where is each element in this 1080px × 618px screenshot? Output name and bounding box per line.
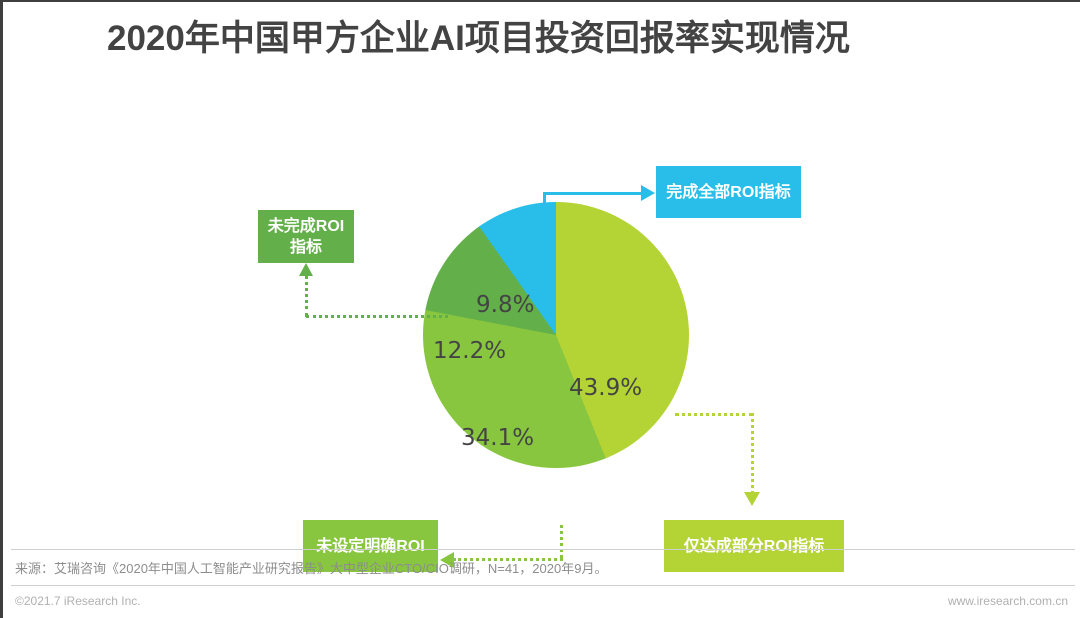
page-title: 2020年中国甲方企业AI项目投资回报率实现情况 — [107, 14, 1007, 64]
pie-slice-label-no-defined-roi: 34.1% — [461, 425, 534, 451]
copyright-text: ©2021.7 iResearch Inc. — [15, 594, 141, 608]
website-link[interactable]: www.iresearch.com.cn — [948, 594, 1068, 608]
pie-slice-label-incomplete-roi: 12.2% — [433, 338, 506, 364]
legend-label-incomplete-roi: 未完成ROI指标 — [258, 210, 354, 263]
arrow-up-icon — [299, 263, 313, 276]
footer-divider — [11, 585, 1075, 586]
arrow-right-icon — [641, 185, 655, 201]
legend-label-partial-roi: 仅达成部分ROI指标 — [664, 520, 844, 572]
connector-complete-all-roi-horizontal — [543, 192, 646, 195]
connector-incomplete-roi-horizontal — [306, 315, 448, 318]
connector-partial-roi-vertical — [751, 413, 754, 494]
pie-slice-label-partial-roi: 43.9% — [569, 375, 642, 401]
connector-complete-all-roi-vertical — [543, 192, 546, 288]
legend-label-complete-all-roi: 完成全部ROI指标 — [656, 166, 801, 218]
arrow-down-icon — [744, 492, 760, 506]
connector-no-defined-roi-vertical — [560, 525, 563, 558]
connector-incomplete-roi-vertical — [305, 275, 308, 317]
source-note: 来源：艾瑞咨询《2020年中国人工智能产业研究报告》大中型企业CTO/CIO调研… — [15, 558, 607, 577]
connector-partial-roi-horizontal — [675, 413, 753, 416]
pie-slice-label-complete-all-roi: 9.8% — [476, 292, 534, 318]
source-divider — [11, 549, 1075, 550]
pie-chart-figure: 43.9% 34.1% 12.2% 9.8% 完成全部ROI指标 未完成ROI指… — [3, 72, 1080, 542]
slide-canvas: 2020年中国甲方企业AI项目投资回报率实现情况 43.9% 34.1% 12.… — [0, 0, 1080, 618]
